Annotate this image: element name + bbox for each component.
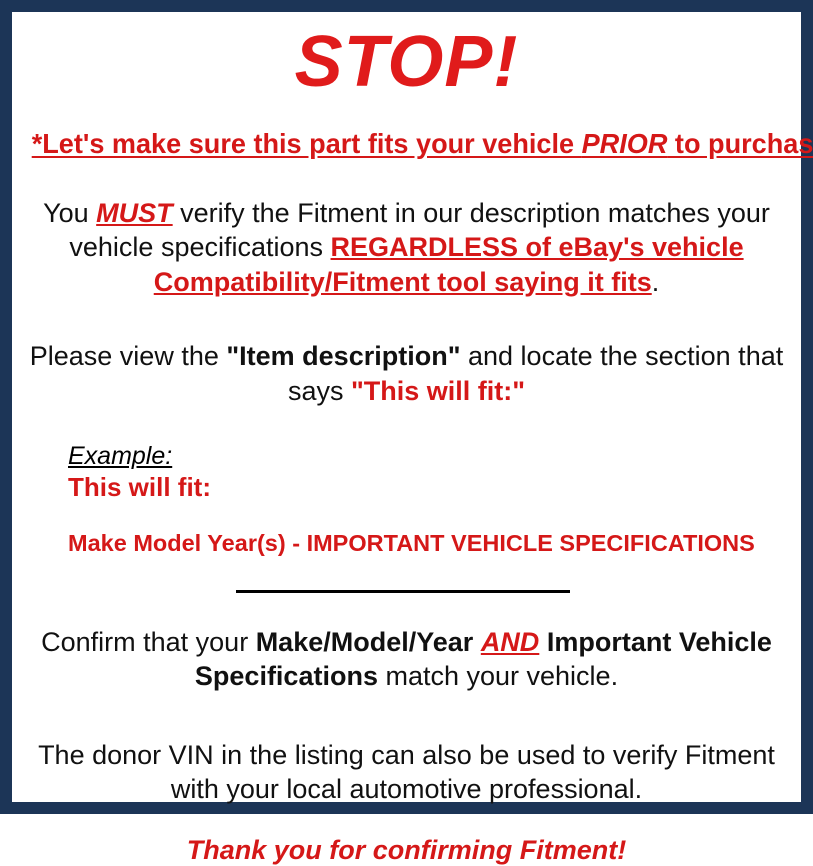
emphasis-item-description: "Item description" [226,341,460,371]
view-text-lead: Please view the [30,341,227,371]
confirm-space-1 [473,627,481,657]
fitment-notice-card: STOP! *Let's make sure this part fits yo… [0,0,813,814]
page-title: STOP! [26,24,787,102]
confirm-text-lead: Confirm that your [41,627,256,657]
tagline-emphasis-prior: PRIOR [582,128,668,159]
example-fit-heading: This will fit: [68,472,787,503]
paragraph-confirm-match: Confirm that your Make/Model/Year AND Im… [26,625,787,694]
example-block: Example: This will fit: Make Model Year(… [68,442,787,556]
emphasis-and: AND [481,627,540,657]
emphasis-must: MUST [96,198,173,228]
confirm-text-trail: match your vehicle. [378,661,618,691]
emphasis-this-will-fit-quote: "This will fit:" [351,376,525,406]
paragraph-verify-fitment: You MUST verify the Fitment in our descr… [26,196,787,300]
confirm-space-2 [539,627,547,657]
closing-thank-you: Thank you for confirming Fitment! [26,835,787,866]
example-label: Example: [68,442,787,470]
verify-text-lead: You [43,198,96,228]
example-spec-line: Make Model Year(s) - IMPORTANT VEHICLE S… [68,530,787,557]
tagline-trail: to purchasing* [667,128,813,159]
paragraph-view-item-description: Please view the "Item description" and l… [26,339,787,408]
fitment-notice-body: STOP! *Let's make sure this part fits yo… [12,12,801,802]
verify-text-period: . [652,267,660,297]
divider-wrapper [26,587,787,597]
tagline-banner: *Let's make sure this part fits your veh… [32,128,782,160]
section-divider [236,590,570,593]
tagline-lead: *Let's make sure this part fits your veh… [32,128,582,159]
paragraph-donor-vin: The donor VIN in the listing can also be… [26,738,787,807]
emphasis-make-model-year: Make/Model/Year [256,627,474,657]
